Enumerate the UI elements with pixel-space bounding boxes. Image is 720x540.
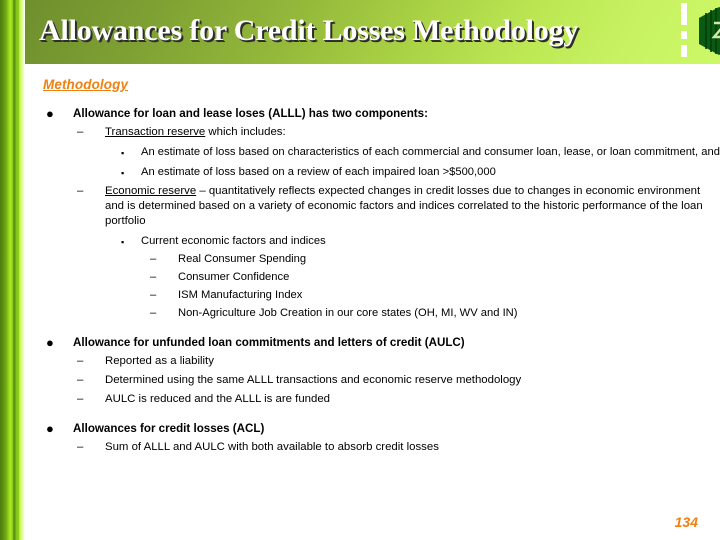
list-item: – Non-Agriculture Job Creation in our co… — [25, 306, 720, 321]
bullet-marker-level-4: – — [150, 288, 156, 303]
list-item-label: Allowance for unfunded loan commitments … — [73, 335, 720, 350]
list-item: – Consumer Confidence — [25, 270, 720, 285]
page-title: Allowances for Credit Losses Methodology — [39, 4, 639, 58]
list-item-label: Real Consumer Spending — [178, 252, 720, 267]
list-item: – Sum of ALLL and AULC with both availab… — [25, 440, 720, 455]
list-item: ▪ Current economic factors and indices — [25, 234, 720, 249]
list-item: ● Allowance for loan and lease loses (AL… — [25, 106, 720, 121]
page-number: 134 — [675, 514, 698, 530]
bullet-marker-level-1: ● — [46, 106, 54, 121]
section-heading: Methodology — [43, 77, 128, 92]
list-item-label: Allowances for credit losses (ACL) — [73, 421, 720, 436]
emphasis-term: Economic reserve — [105, 185, 196, 197]
bullet-list-level-1: ● Allowance for loan and lease loses (AL… — [25, 106, 720, 121]
list-item: – AULC is reduced and the ALLL is are fu… — [25, 392, 720, 407]
list-item: ● Allowances for credit losses (ACL) — [25, 421, 720, 436]
hexagon-brand-logo-icon — [698, 6, 720, 56]
slide-header: Allowances for Credit Losses Methodology — [25, 0, 720, 64]
list-item-label: An estimate of loss based on characteris… — [141, 145, 720, 160]
list-item-label: ISM Manufacturing Index — [178, 288, 720, 303]
list-item-label: Allowance for loan and lease loses (ALLL… — [73, 106, 720, 121]
bullet-marker-level-2: – — [77, 373, 83, 388]
bullet-marker-level-2: – — [77, 440, 83, 455]
list-item: – Determined using the same ALLL transac… — [25, 373, 720, 388]
bullet-list-level-1: ● Allowance for unfunded loan commitment… — [25, 335, 720, 350]
bullet-marker-level-2: – — [77, 354, 83, 369]
list-item-label: Sum of ALLL and AULC with both available… — [105, 440, 720, 455]
bullet-marker-level-3: ▪ — [121, 145, 124, 161]
list-item-text: which includes: — [205, 126, 285, 138]
bullet-list-level-3: ▪ An estimate of loss based on character… — [25, 145, 720, 180]
slide-body: Methodology ● Allowance for loan and lea… — [25, 64, 720, 540]
bullet-marker-level-2: – — [77, 184, 83, 199]
bullet-marker-level-1: ● — [46, 335, 54, 350]
dashed-separator-icon — [681, 3, 687, 61]
bullet-list-level-2: – Economic reserve – quantitatively refl… — [25, 184, 720, 229]
list-item-label: Transaction reserve which includes: — [105, 125, 720, 140]
bullet-outline: ● Allowance for loan and lease loses (AL… — [25, 100, 720, 455]
bullet-list-level-4: – Real Consumer Spending – Consumer Conf… — [25, 252, 720, 321]
list-item-label: Current economic factors and indices — [141, 234, 720, 249]
left-accent-bar — [0, 0, 25, 540]
list-item: ▪ An estimate of loss based on character… — [25, 145, 720, 160]
list-item-label: Non-Agriculture Job Creation in our core… — [178, 306, 720, 321]
emphasis-term: Transaction reserve — [105, 126, 205, 138]
bullet-marker-level-4: – — [150, 270, 156, 285]
bullet-list-level-3: ▪ Current economic factors and indices — [25, 234, 720, 249]
list-item-label: Consumer Confidence — [178, 270, 720, 285]
list-item-label: An estimate of loss based on a review of… — [141, 165, 720, 180]
list-item-label: AULC is reduced and the ALLL is are fund… — [105, 392, 720, 407]
list-item-label: Reported as a liability — [105, 354, 720, 369]
bullet-list-level-2: – Transaction reserve which includes: — [25, 125, 720, 140]
bullet-marker-level-1: ● — [46, 421, 54, 436]
bullet-marker-level-3: ▪ — [121, 165, 124, 181]
bullet-marker-level-3: ▪ — [121, 234, 124, 250]
accent-stripe-light — [10, 0, 13, 540]
bullet-list-level-1: ● Allowances for credit losses (ACL) — [25, 421, 720, 436]
accent-stripe-dark — [17, 0, 19, 540]
list-item: ● Allowance for unfunded loan commitment… — [25, 335, 720, 350]
bullet-marker-level-4: – — [150, 306, 156, 321]
bullet-marker-level-2: – — [77, 392, 83, 407]
list-item: – Transaction reserve which includes: — [25, 125, 720, 140]
bullet-marker-level-2: – — [77, 125, 83, 140]
list-item: – Economic reserve – quantitatively refl… — [25, 184, 720, 229]
list-item-label: Determined using the same ALLL transacti… — [105, 373, 720, 388]
list-item: ▪ An estimate of loss based on a review … — [25, 165, 720, 180]
list-item: – Real Consumer Spending — [25, 252, 720, 267]
list-item: – ISM Manufacturing Index — [25, 288, 720, 303]
list-item: – Reported as a liability — [25, 354, 720, 369]
bullet-list-level-2: – Sum of ALLL and AULC with both availab… — [25, 440, 720, 455]
list-item-label: Economic reserve – quantitatively reflec… — [105, 184, 720, 229]
bullet-marker-level-4: – — [150, 252, 156, 267]
bullet-list-level-2: – Reported as a liability – Determined u… — [25, 354, 720, 407]
